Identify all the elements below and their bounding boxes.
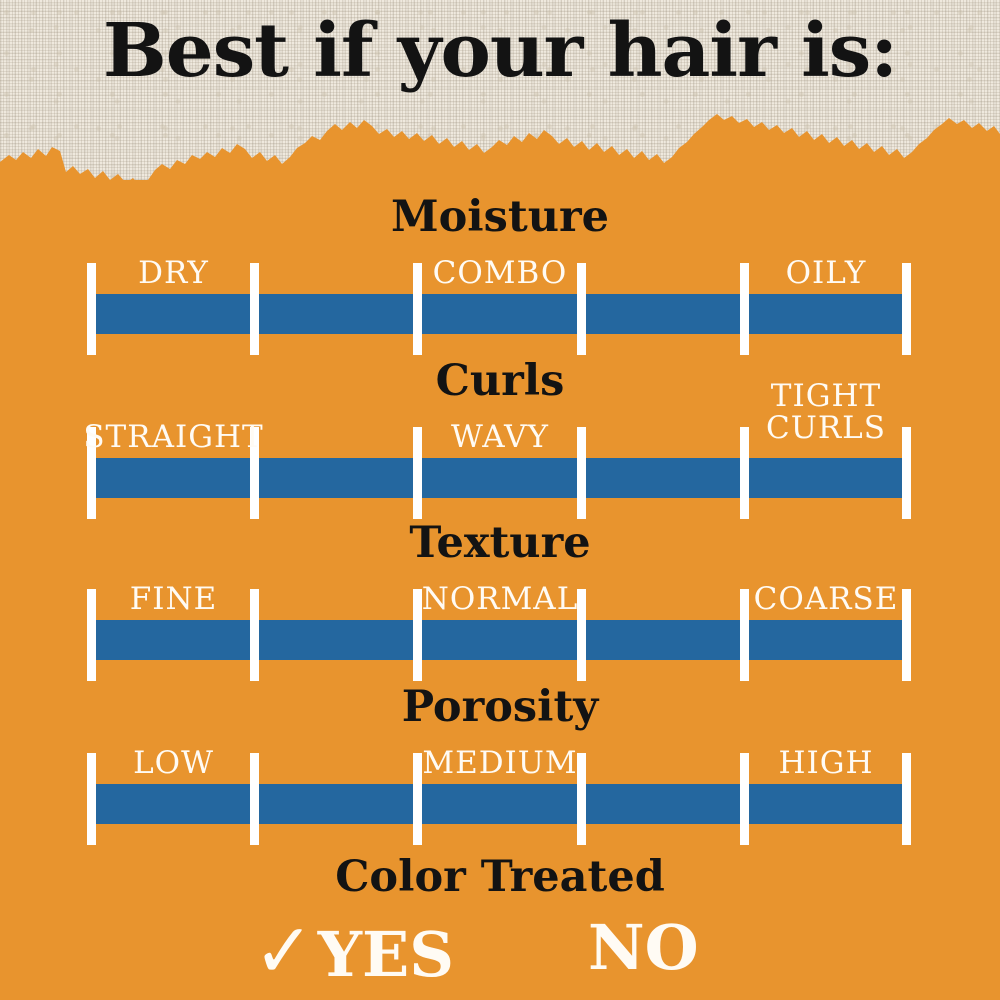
infographic-card: Best if your hair is: MoistureDRYCOMBOOI… [0, 0, 1000, 1000]
checkmark-icon: ✓ [254, 913, 315, 989]
scale-label-porosity-1: MEDIUM [396, 748, 604, 779]
scale-title-texture: Texture [0, 522, 1000, 565]
scale-label-line: TIGHT [723, 381, 929, 413]
scale-label-line: COARSE [723, 584, 929, 615]
color-treated-option-label: YES [318, 924, 454, 986]
scale-label-line: OILY [723, 258, 929, 289]
scale-track-curls[interactable]: STRAIGHTWAVYTIGHTCURLS [0, 427, 1000, 519]
scale-label-porosity-0: LOW [70, 748, 277, 779]
color-treated-option-yes[interactable]: ✓YES [252, 917, 454, 993]
scale-label-moisture-0: DRY [70, 258, 277, 289]
scale-label-curls-2: TIGHTCURLS [723, 381, 929, 444]
scale-section-moisture: MoistureDRYCOMBOOILY [0, 196, 1000, 355]
scale-title-porosity: Porosity [0, 686, 1000, 729]
scale-label-line: FINE [70, 584, 277, 615]
scale-label-curls-0: STRAIGHT [70, 422, 277, 453]
scale-label-line: LOW [70, 748, 277, 779]
scale-label-texture-0: FINE [70, 584, 277, 615]
scale-label-line: HIGH [723, 748, 929, 779]
scale-section-texture: TextureFINENORMALCOARSE [0, 522, 1000, 681]
scale-label-line: DRY [70, 258, 277, 289]
scale-section-curls: CurlsSTRAIGHTWAVYTIGHTCURLS [0, 360, 1000, 519]
scale-section-porosity: PorosityLOWMEDIUMHIGH [0, 686, 1000, 845]
color-treated-options: ✓YESNO [0, 917, 1000, 1000]
scale-label-line: WAVY [396, 422, 604, 453]
scale-label-curls-1: WAVY [396, 422, 604, 453]
scale-label-moisture-2: OILY [723, 258, 929, 289]
torn-paper-edge [0, 100, 1000, 180]
scale-label-moisture-1: COMBO [396, 258, 604, 289]
scale-track-texture[interactable]: FINENORMALCOARSE [0, 589, 1000, 681]
scale-label-porosity-2: HIGH [723, 748, 929, 779]
color-treated-section: Color Treated ✓YESNO [0, 856, 1000, 1000]
color-treated-title: Color Treated [0, 856, 1000, 899]
range-bar-curls [93, 458, 907, 498]
range-bar-moisture [93, 294, 907, 334]
scale-label-line: NORMAL [396, 584, 604, 615]
color-treated-option-no[interactable]: NO [588, 917, 699, 979]
color-treated-option-label: NO [588, 917, 699, 979]
scale-label-texture-2: COARSE [723, 584, 929, 615]
range-bar-porosity [93, 784, 907, 824]
scale-label-line: MEDIUM [396, 748, 604, 779]
scale-title-moisture: Moisture [0, 196, 1000, 239]
scale-track-porosity[interactable]: LOWMEDIUMHIGH [0, 753, 1000, 845]
header-banner: Best if your hair is: [0, 0, 1000, 180]
scale-label-line: CURLS [723, 413, 929, 445]
scale-label-line: COMBO [396, 258, 604, 289]
page-title: Best if your hair is: [0, 14, 1000, 88]
scale-track-moisture[interactable]: DRYCOMBOOILY [0, 263, 1000, 355]
scale-label-texture-1: NORMAL [396, 584, 604, 615]
scale-label-line: STRAIGHT [70, 422, 277, 453]
range-bar-texture [93, 620, 907, 660]
